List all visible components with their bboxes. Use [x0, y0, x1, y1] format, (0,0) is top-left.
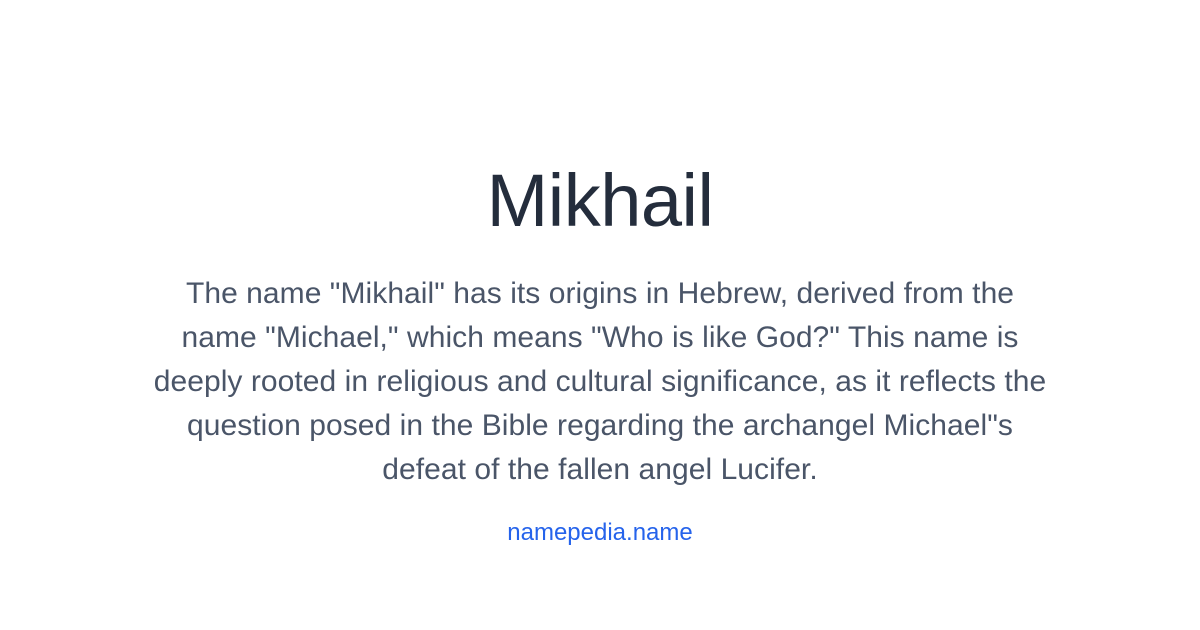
- name-meaning-og-card: Mikhail The name "Mikhail" has its origi…: [0, 0, 1200, 630]
- page-title: Mikhail: [0, 164, 1200, 238]
- name-description: The name "Mikhail" has its origins in He…: [150, 272, 1050, 492]
- site-link[interactable]: namepedia.name: [507, 519, 692, 548]
